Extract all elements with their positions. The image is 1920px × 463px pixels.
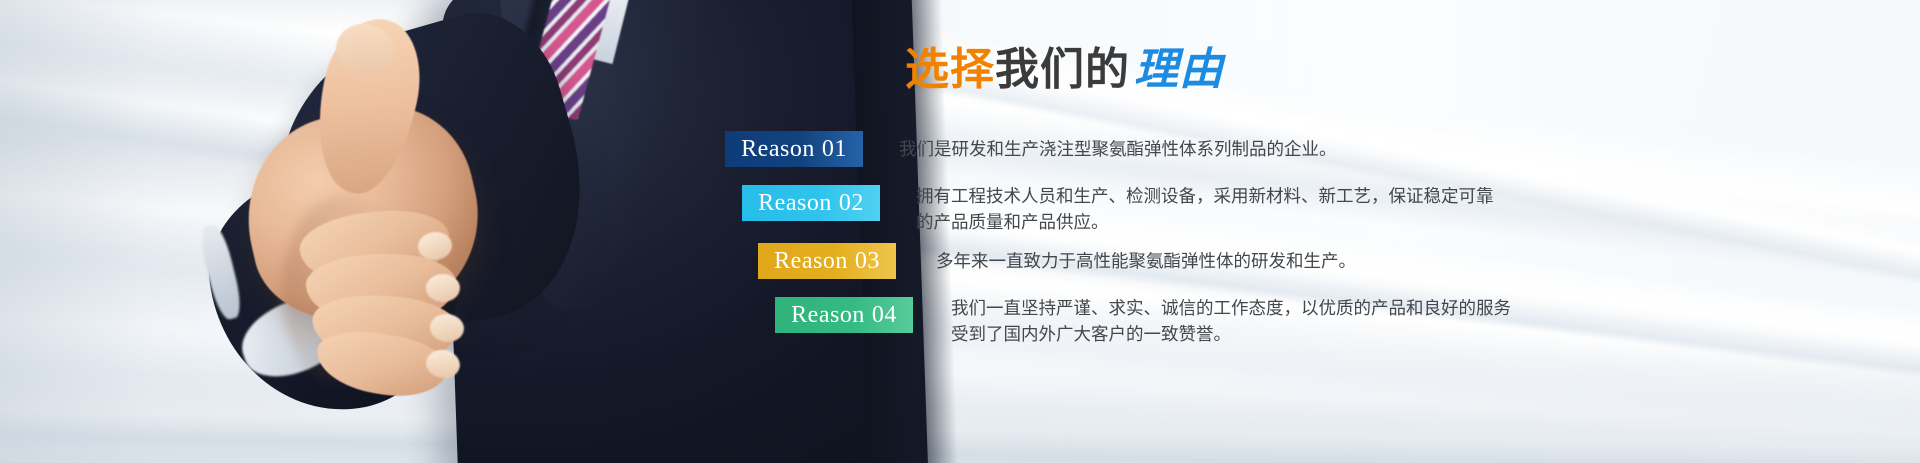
reason-text-1: 我们是研发和生产浇注型聚氨酯弹性体系列制品的企业。 xyxy=(899,136,1337,162)
reason-badge-label: Reason xyxy=(774,248,848,275)
reason-badge-label: Reason xyxy=(741,136,815,163)
title-part-orange: 选择 xyxy=(905,45,995,94)
reason-item-1: Reason01 我们是研发和生产浇注型聚氨酯弹性体系列制品的企业。 xyxy=(725,131,1337,167)
title-part-dark: 我们的 xyxy=(995,45,1130,94)
reason-badge-1: Reason01 xyxy=(725,131,863,167)
why-choose-us-banner: 选择我们的理由 Reason01 我们是研发和生产浇注型聚氨酯弹性体系列制品的企… xyxy=(0,0,1920,463)
reason-text-4: 我们一直坚持严谨、求实、诚信的工作态度，以优质的产品和良好的服务 受到了国内外广… xyxy=(951,295,1511,347)
reason-item-4: Reason04 我们一直坚持严谨、求实、诚信的工作态度，以优质的产品和良好的服… xyxy=(775,297,1511,347)
reason-badge-4: Reason04 xyxy=(775,297,913,333)
reason-badge-number: 01 xyxy=(815,136,847,163)
reason-text-3: 多年来一直致力于高性能聚氨酯弹性体的研发和生产。 xyxy=(936,248,1356,274)
reason-badge-2: Reason02 xyxy=(742,185,880,221)
reason-badge-number: 04 xyxy=(865,302,897,329)
reason-text-2: 拥有工程技术人员和生产、检测设备，采用新材料、新工艺，保证稳定可靠 的产品质量和… xyxy=(916,183,1494,235)
reason-badge-3: Reason03 xyxy=(758,243,896,279)
reason-badge-label: Reason xyxy=(791,302,865,329)
banner-content: 选择我们的理由 Reason01 我们是研发和生产浇注型聚氨酯弹性体系列制品的企… xyxy=(0,0,1920,463)
reason-badge-number: 03 xyxy=(848,248,880,275)
reason-item-3: Reason03 多年来一直致力于高性能聚氨酯弹性体的研发和生产。 xyxy=(758,243,1356,279)
title-part-blue: 理由 xyxy=(1130,45,1224,94)
reason-badge-number: 02 xyxy=(832,190,864,217)
reason-item-2: Reason02 拥有工程技术人员和生产、检测设备，采用新材料、新工艺，保证稳定… xyxy=(742,185,1494,235)
page-title: 选择我们的理由 xyxy=(905,48,1224,92)
reason-badge-label: Reason xyxy=(758,190,832,217)
